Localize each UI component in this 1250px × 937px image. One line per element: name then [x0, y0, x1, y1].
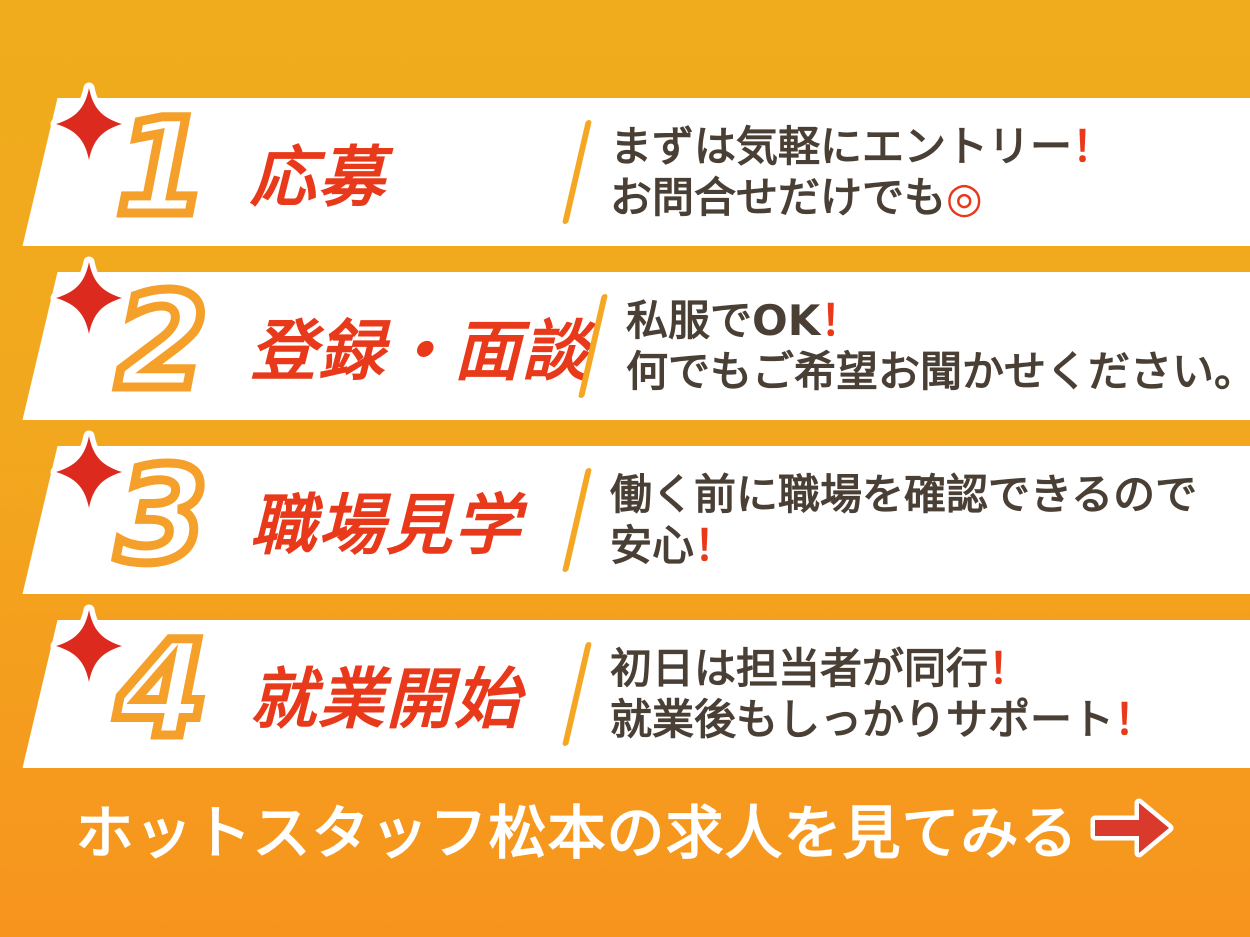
- step-desc-line1: 初日は担当者が同行: [610, 644, 988, 693]
- cta-label-main: 求人を見てみる: [666, 786, 1079, 870]
- step-desc-line1: 私服でOK: [626, 296, 820, 345]
- step-desc-line1: まずは気軽にエントリー: [610, 122, 1072, 171]
- divider-slash: [562, 120, 592, 224]
- step-description-1: まずは気軽にエントリー！ お問合せだけでも◎: [610, 121, 1250, 223]
- divider-slash: [562, 468, 592, 572]
- cta-label-particle: の: [606, 786, 665, 870]
- step-desc-line2-mark: ！: [1114, 695, 1156, 744]
- recruitment-steps-banner: 1 応募 まずは気軽にエントリー！ お問合せだけでも◎ 2 登録・面談 私服でO…: [0, 0, 1250, 937]
- step-desc-line1-mark: ！: [820, 296, 862, 345]
- step-card-1[interactable]: 1 応募 まずは気軽にエントリー！ お問合せだけでも◎: [0, 98, 1250, 246]
- step-card-4[interactable]: 4 就業開始 初日は担当者が同行！ 就業後もしっかりサポート！: [0, 620, 1250, 768]
- step-desc-line1: 働く前に職場を確認できるので: [610, 470, 1197, 519]
- cta-link[interactable]: ホットスタッフ松本の求人を見てみる: [0, 778, 1250, 878]
- step-desc-line2: 何でもご希望お聞かせください。: [626, 347, 1250, 396]
- step-title-1: 応募: [250, 124, 386, 220]
- step-description-3: 働く前に職場を確認できるので 安心！: [610, 469, 1250, 571]
- step-description-4: 初日は担当者が同行！ 就業後もしっかりサポート！: [610, 643, 1250, 745]
- cta-label-prefix: ホットスタッフ松本: [75, 786, 606, 870]
- step-title-2: 登録・面談: [250, 298, 590, 394]
- step-desc-line1-mark: ！: [1072, 122, 1114, 171]
- step-desc-line2: 安心: [610, 521, 694, 570]
- step-desc-line1-mark: ！: [988, 644, 1030, 693]
- step-desc-line2-mark: ◎: [946, 173, 983, 222]
- sparkle-icon: [46, 430, 132, 530]
- arrow-right-icon[interactable]: [1089, 791, 1175, 865]
- divider-slash: [562, 642, 592, 746]
- step-title-4: 就業開始: [250, 646, 522, 742]
- sparkle-icon: [46, 82, 132, 182]
- step-desc-line2: お問合せだけでも: [610, 173, 946, 222]
- step-title-3: 職場見学: [250, 472, 522, 568]
- step-desc-line2-mark: ！: [694, 521, 736, 570]
- sparkle-icon: [46, 256, 132, 356]
- sparkle-icon: [46, 604, 132, 704]
- step-desc-line2: 就業後もしっかりサポート: [610, 695, 1114, 744]
- step-card-2[interactable]: 2 登録・面談 私服でOK！ 何でもご希望お聞かせください。: [0, 272, 1250, 420]
- step-description-2: 私服でOK！ 何でもご希望お聞かせください。: [626, 295, 1250, 397]
- step-card-3[interactable]: 3 職場見学 働く前に職場を確認できるので 安心！: [0, 446, 1250, 594]
